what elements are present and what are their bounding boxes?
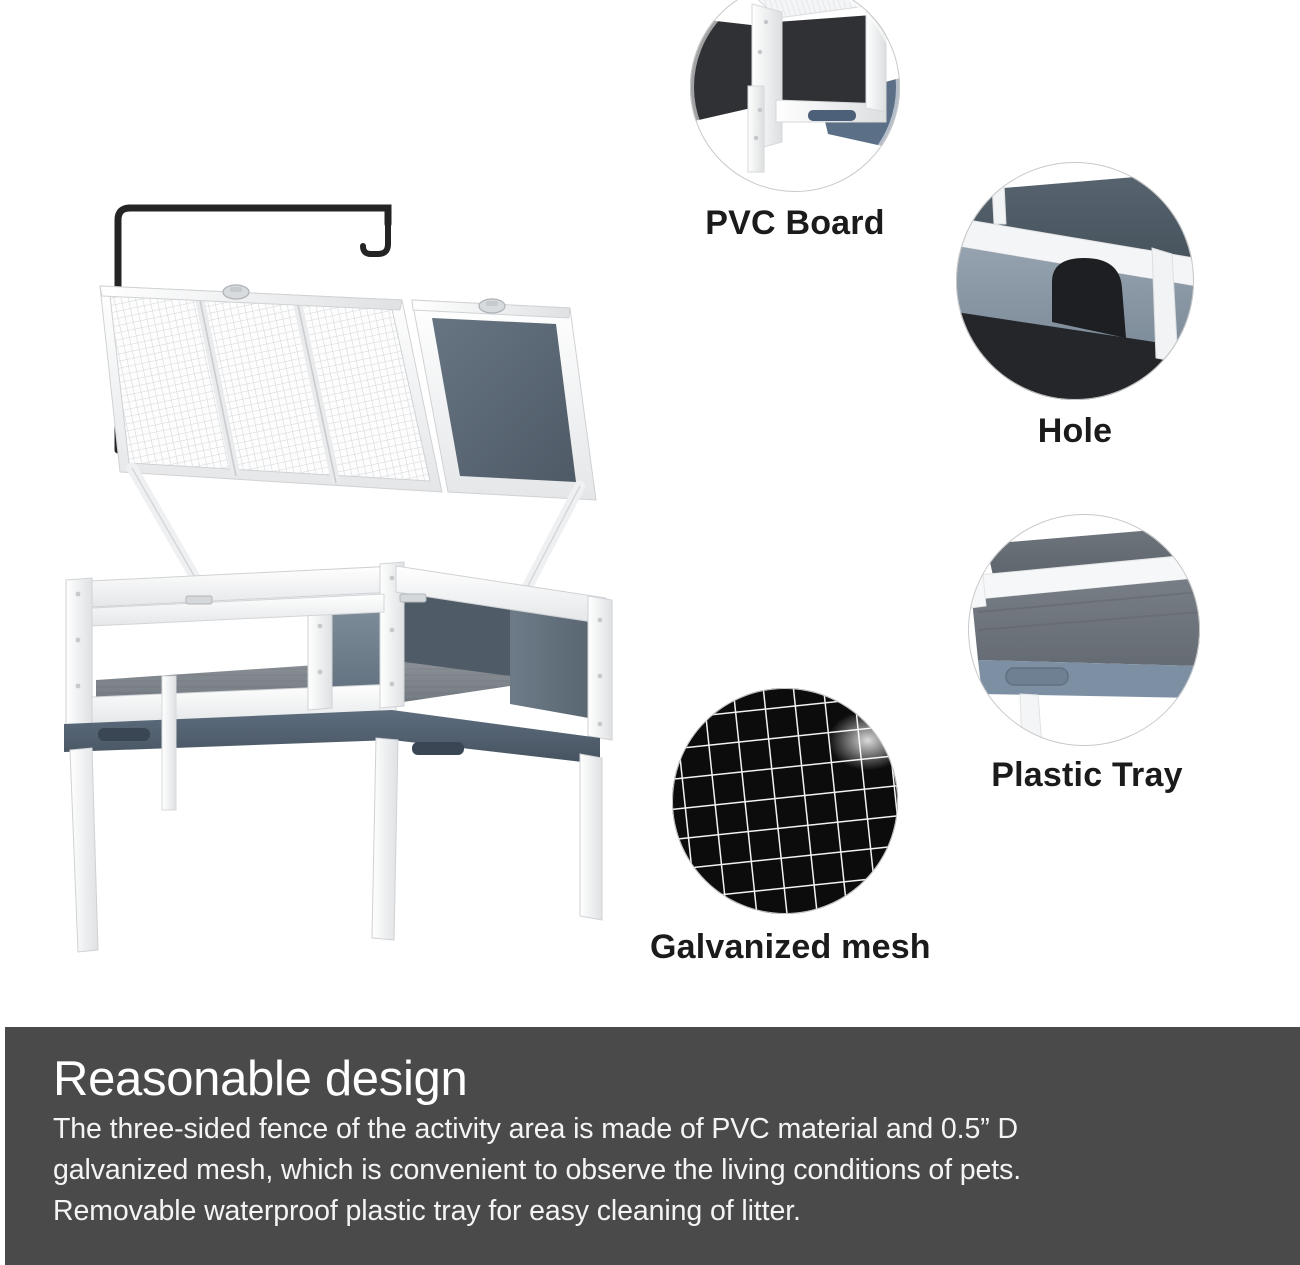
description-banner: Reasonable design The three-sided fence … <box>5 1027 1300 1265</box>
leg-front-left <box>70 748 98 952</box>
lid-clasp-right <box>479 299 505 313</box>
lid-clasp-left <box>223 285 249 299</box>
banner-paragraph: The three-sided fence of the activity ar… <box>53 1109 1252 1232</box>
banner-heading: Reasonable design <box>53 1055 1252 1105</box>
leg-front-right <box>372 738 398 940</box>
banner-line-2: galvanized mesh, which is convenient to … <box>53 1150 1252 1191</box>
hole-detail-photo <box>956 162 1194 400</box>
leg-back-right <box>580 754 602 920</box>
lid-mesh-leaf <box>100 286 442 492</box>
pvc-board-detail-photo <box>690 0 900 192</box>
tray-handle-right <box>412 742 464 755</box>
banner-line-1: The three-sided fence of the activity ar… <box>53 1109 1252 1150</box>
infographic-canvas: PVC Board <box>0 0 1300 1265</box>
banner-line-3: Removable waterproof plastic tray for ea… <box>53 1191 1252 1232</box>
plastic-tray-detail-photo <box>968 514 1200 746</box>
galvanized-mesh-detail-photo <box>672 688 898 914</box>
pvc-board-label: PVC Board <box>660 204 930 243</box>
hole-label: Hole <box>940 412 1210 451</box>
main-product-photo <box>40 120 680 960</box>
lid-solid-leaf <box>412 300 596 500</box>
product-illustration <box>40 120 680 960</box>
plastic-tray-label: Plastic Tray <box>952 756 1222 795</box>
leg-back-left <box>162 676 176 810</box>
galvanized-mesh-label: Galvanized mesh <box>650 928 920 967</box>
tray-handle-left <box>98 728 150 741</box>
